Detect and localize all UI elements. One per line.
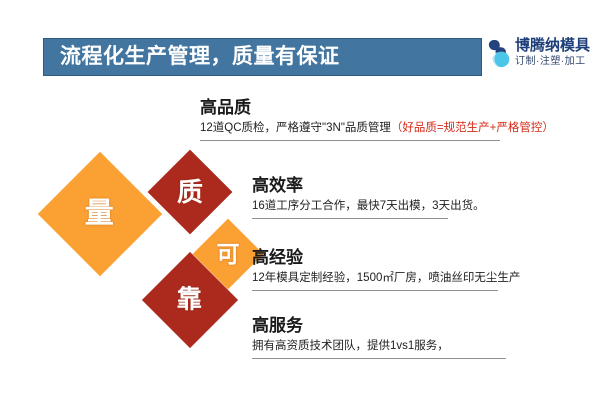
feature-rule-efficiency — [252, 218, 448, 219]
feature-title-service: 高服务 — [252, 316, 506, 336]
diamond-zhi: 质 — [148, 150, 233, 235]
brand-text: 博腾纳模具 订制·注塑·加工 — [515, 36, 597, 74]
page-title: 流程化生产管理，质量有保证 — [60, 39, 480, 75]
feature-rule-service — [252, 358, 506, 359]
brand-logo[interactable]: 博腾纳模具 订制·注塑·加工 — [487, 34, 597, 76]
feature-block-service: 高服务 拥有高资质技术团队，提供1vs1服务， — [252, 316, 506, 359]
feature-title-experience: 高经验 — [252, 248, 520, 268]
feature-block-efficiency: 高效率 16道工序分工合作，最快7天出模，3天出货。 — [252, 176, 485, 219]
feature-desc-quality: 12道QC质检，严格遵守"3N"品质管理（好品质=规范生产+严格管控） — [200, 121, 554, 138]
feature-block-quality: 高品质 12道QC质检，严格遵守"3N"品质管理（好品质=规范生产+严格管控） — [200, 98, 554, 141]
butterfly-clover-icon — [487, 37, 517, 71]
diamond-liang: 量 — [38, 152, 162, 276]
brand-name: 博腾纳模具 — [515, 36, 597, 55]
feature-desc-service: 拥有高资质技术团队，提供1vs1服务， — [252, 339, 506, 356]
poster-canvas: 流程化生产管理，质量有保证 博腾纳模具 订制·注塑·加工 量 质 可 靠 高品质… — [0, 0, 600, 400]
feature-rule-quality — [200, 140, 500, 141]
feature-desc-experience: 12年模具定制经验，1500㎡厂房，喷油丝印无尘生产 — [252, 271, 520, 288]
feature-note-quality: （好品质=规范生产+严格管控） — [391, 122, 554, 134]
feature-block-experience: 高经验 12年模具定制经验，1500㎡厂房，喷油丝印无尘生产 — [252, 248, 520, 291]
feature-rule-experience — [252, 290, 498, 291]
brand-subtitle: 订制·注塑·加工 — [515, 55, 597, 69]
diamond-liang-glyph: 量 — [85, 199, 114, 228]
feature-title-efficiency: 高效率 — [252, 176, 485, 196]
diamond-zhi-glyph: 质 — [177, 179, 203, 205]
diamond-ke-glyph: 可 — [217, 243, 240, 266]
diamond-kao-glyph: 靠 — [177, 287, 202, 312]
feature-desc-text-quality: 12道QC质检，严格遵守"3N"品质管理 — [200, 122, 391, 134]
feature-title-quality: 高品质 — [200, 98, 554, 118]
feature-desc-efficiency: 16道工序分工合作，最快7天出模，3天出货。 — [252, 199, 485, 216]
